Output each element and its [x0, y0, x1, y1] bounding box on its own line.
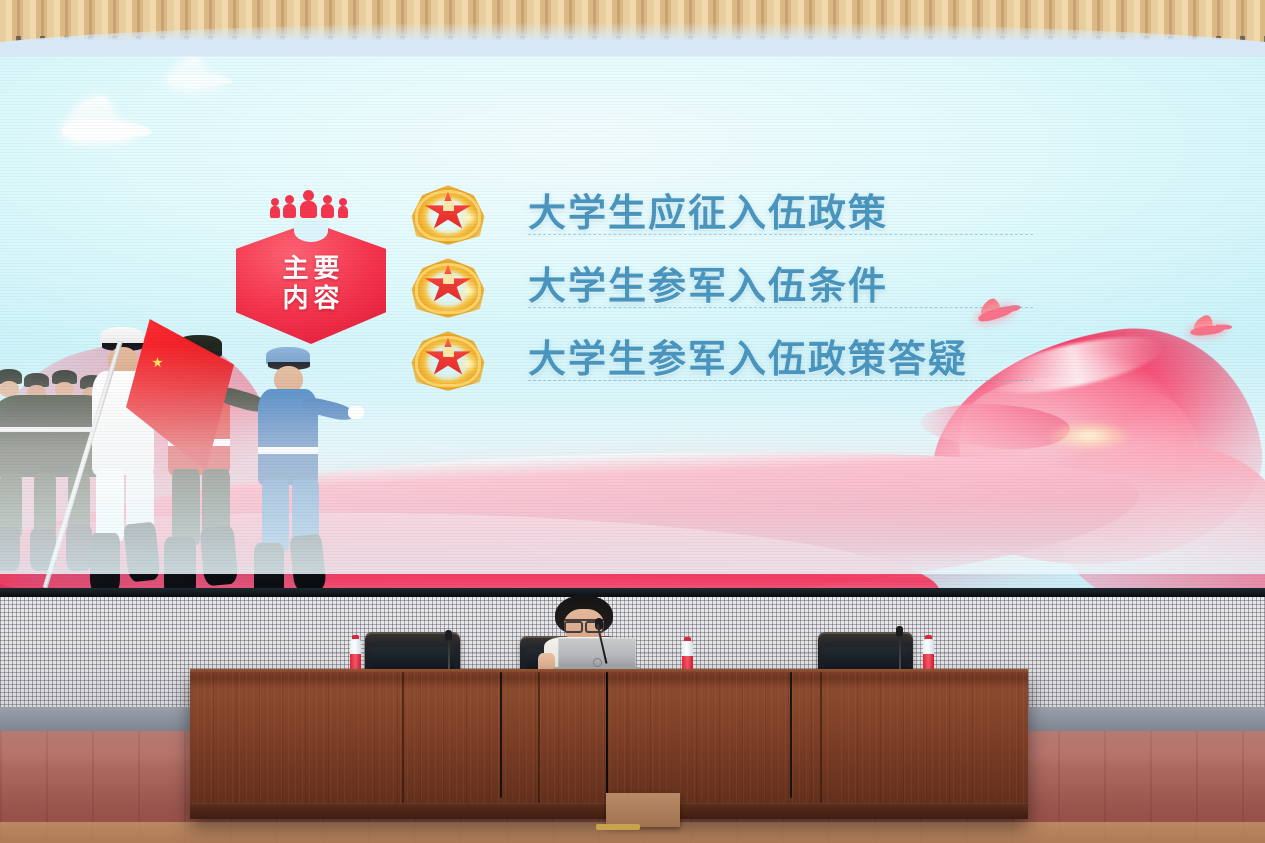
bullet-label: 大学生参军入伍政策答疑 [528, 328, 968, 383]
bullet-label: 大学生参军入伍条件 [528, 255, 888, 310]
dove-icon [62, 104, 136, 150]
badge-line-1: 主要 [277, 254, 344, 282]
pla-emblem-icon [410, 330, 486, 392]
lecture-hall-scene: 主要 内容 大学生应征入伍政策 大学生参军入伍条件 [0, 0, 1265, 843]
laptop[interactable] [558, 638, 636, 672]
bullet-label: 大学生应征入伍政策 [528, 182, 888, 237]
badge-text: 主要 内容 [236, 222, 386, 344]
bullet-underline [528, 307, 1033, 308]
power-cable [790, 672, 792, 798]
floor-outlet [596, 824, 640, 830]
floor-cable-box [606, 793, 680, 827]
dove-icon [1189, 316, 1226, 342]
group-of-people-icon [267, 190, 359, 216]
pla-emblem-icon [410, 257, 486, 319]
dove-icon [168, 62, 220, 94]
power-cable [500, 672, 502, 798]
badge-line-2: 内容 [277, 284, 344, 312]
dove-icon [974, 296, 1015, 328]
pla-emblem-icon [410, 184, 486, 246]
power-cable [606, 672, 608, 798]
bullet-underline [528, 234, 1033, 235]
led-presentation-screen: 主要 内容 大学生应征入伍政策 大学生参军入伍条件 [0, 44, 1265, 597]
main-content-badge: 主要 内容 [236, 222, 386, 344]
bullet-underline [528, 380, 1033, 381]
